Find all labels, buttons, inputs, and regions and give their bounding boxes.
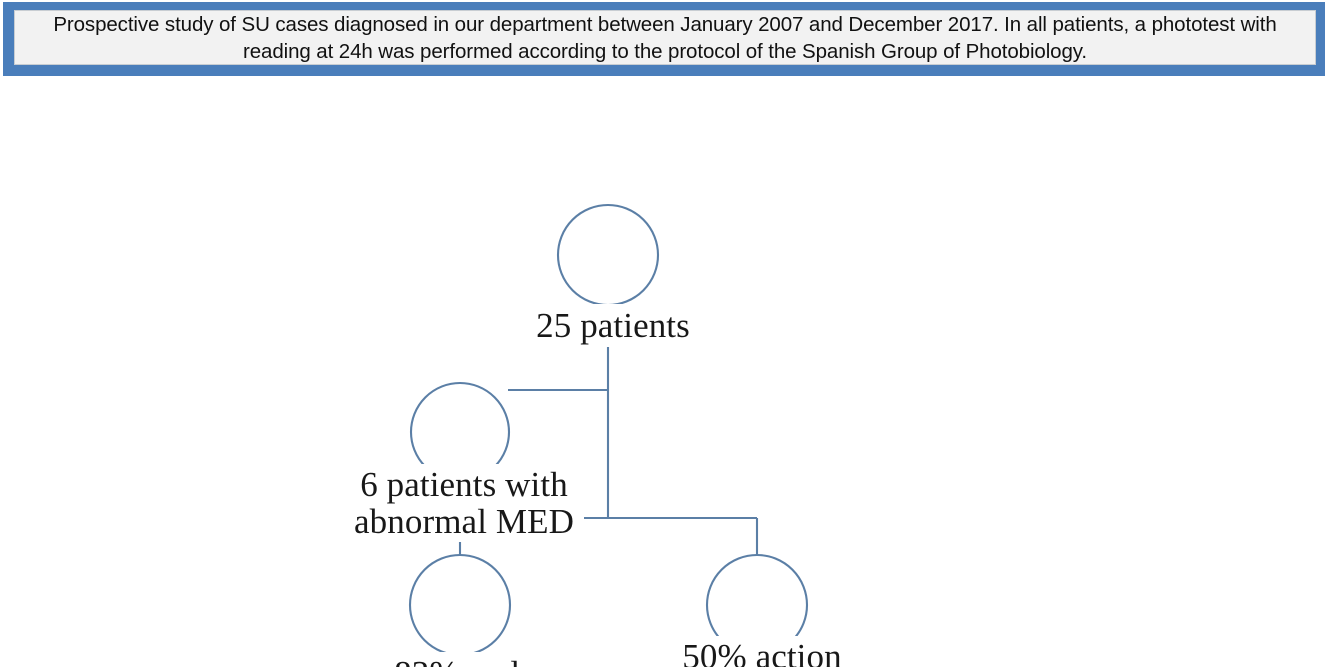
study-description-callout: Prospective study of SU cases diagnosed …	[3, 2, 1325, 76]
node-circle-male	[410, 555, 510, 655]
study-flow-diagram: 25 patients 6 patients withabnormal MED …	[0, 76, 1333, 667]
node-label-uvb-line1: 50% action	[682, 637, 841, 667]
node-circle-root	[558, 205, 658, 305]
node-label-abnormal-med-line1: 6 patients with	[360, 465, 568, 504]
node-label-abnormal-med: 6 patients withabnormal MED	[344, 464, 584, 542]
node-label-male: 83% male	[378, 652, 552, 667]
node-label-root: 25 patients	[514, 304, 712, 347]
study-description-text: Prospective study of SU cases diagnosed …	[14, 11, 1316, 65]
diagram-canvas	[0, 76, 1333, 667]
diagram-page: Prospective study of SU cases diagnosed …	[0, 0, 1333, 667]
node-label-uvb: 50% actionspectrum in UVB	[628, 636, 896, 667]
node-label-abnormal-med-line2: abnormal MED	[354, 502, 574, 541]
